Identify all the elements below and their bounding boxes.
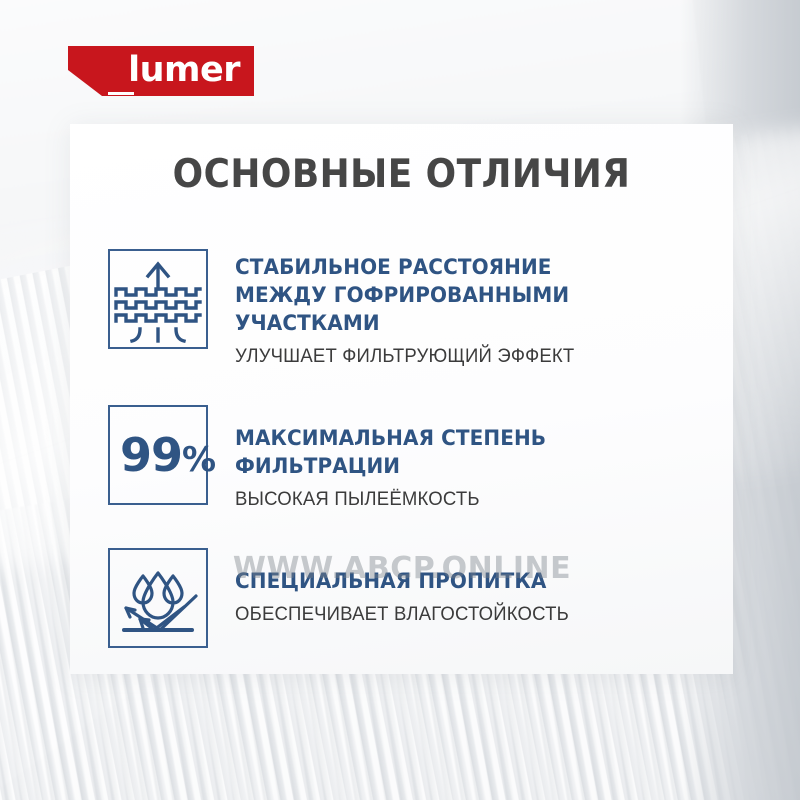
feature-text: МАКСИМАЛЬНАЯ СТЕПЕНЬ ФИЛЬТРАЦИИ ВЫСОКАЯ … <box>208 405 721 512</box>
feature-heading-line-1: МАКСИМАЛЬНАЯ СТЕПЕНЬ ФИЛЬТРАЦИИ <box>235 425 687 481</box>
feature-text: СПЕЦИАЛЬНАЯ ПРОПИТКА ОБЕСПЕЧИВАЕТ ВЛАГОС… <box>208 548 721 627</box>
feature-subtitle: ОБЕСПЕЧИВАЕТ ВЛАГОСТОЙКОСТЬ <box>235 602 697 627</box>
feature-subtitle: УЛУЧШАЕТ ФИЛЬТРУЮЩИЙ ЭФФЕКТ <box>235 344 697 369</box>
corrugated-pleats-airflow-icon <box>108 249 208 349</box>
feature-item: СТАБИЛЬНОЕ РАССТОЯНИЕ МЕЖДУ ГОФРИРОВАННЫ… <box>108 249 721 369</box>
water-repellent-droplets-icon <box>108 548 208 648</box>
feature-text: СТАБИЛЬНОЕ РАССТОЯНИЕ МЕЖДУ ГОФРИРОВАННЫ… <box>208 249 721 369</box>
feature-heading-line-2: МЕЖДУ ГОФРИРОВАННЫМИ УЧАСТКАМИ <box>235 282 687 338</box>
percent-99-icon: 99% <box>108 405 208 505</box>
brand-logo: lumer <box>68 46 254 96</box>
feature-item: 99% МАКСИМАЛЬНАЯ СТЕПЕНЬ ФИЛЬТРАЦИИ ВЫСО… <box>108 405 721 512</box>
content-card: ОСНОВНЫЕ ОТЛИЧИЯ <box>70 124 733 674</box>
feature-heading-line-1: СТАБИЛЬНОЕ РАССТОЯНИЕ <box>235 254 687 282</box>
promo-banner: lumer ОСНОВНЫЕ ОТЛИЧИЯ <box>0 0 800 800</box>
page-title: ОСНОВНЫЕ ОТЛИЧИЯ <box>97 152 707 197</box>
percent-symbol: % <box>182 440 215 480</box>
brand-logo-wordmark: lumer <box>128 53 240 90</box>
feature-list: СТАБИЛЬНОЕ РАССТОЯНИЕ МЕЖДУ ГОФРИРОВАННЫ… <box>108 249 721 648</box>
brand-logo-underline-mark <box>108 92 134 95</box>
feature-heading-line-1: СПЕЦИАЛЬНАЯ ПРОПИТКА <box>235 568 687 596</box>
percent-number: 99 <box>120 428 182 482</box>
percent-value: 99% <box>120 432 215 478</box>
feature-item: СПЕЦИАЛЬНАЯ ПРОПИТКА ОБЕСПЕЧИВАЕТ ВЛАГОС… <box>108 548 721 648</box>
feature-subtitle: ВЫСОКАЯ ПЫЛЕЁМКОСТЬ <box>235 487 697 512</box>
